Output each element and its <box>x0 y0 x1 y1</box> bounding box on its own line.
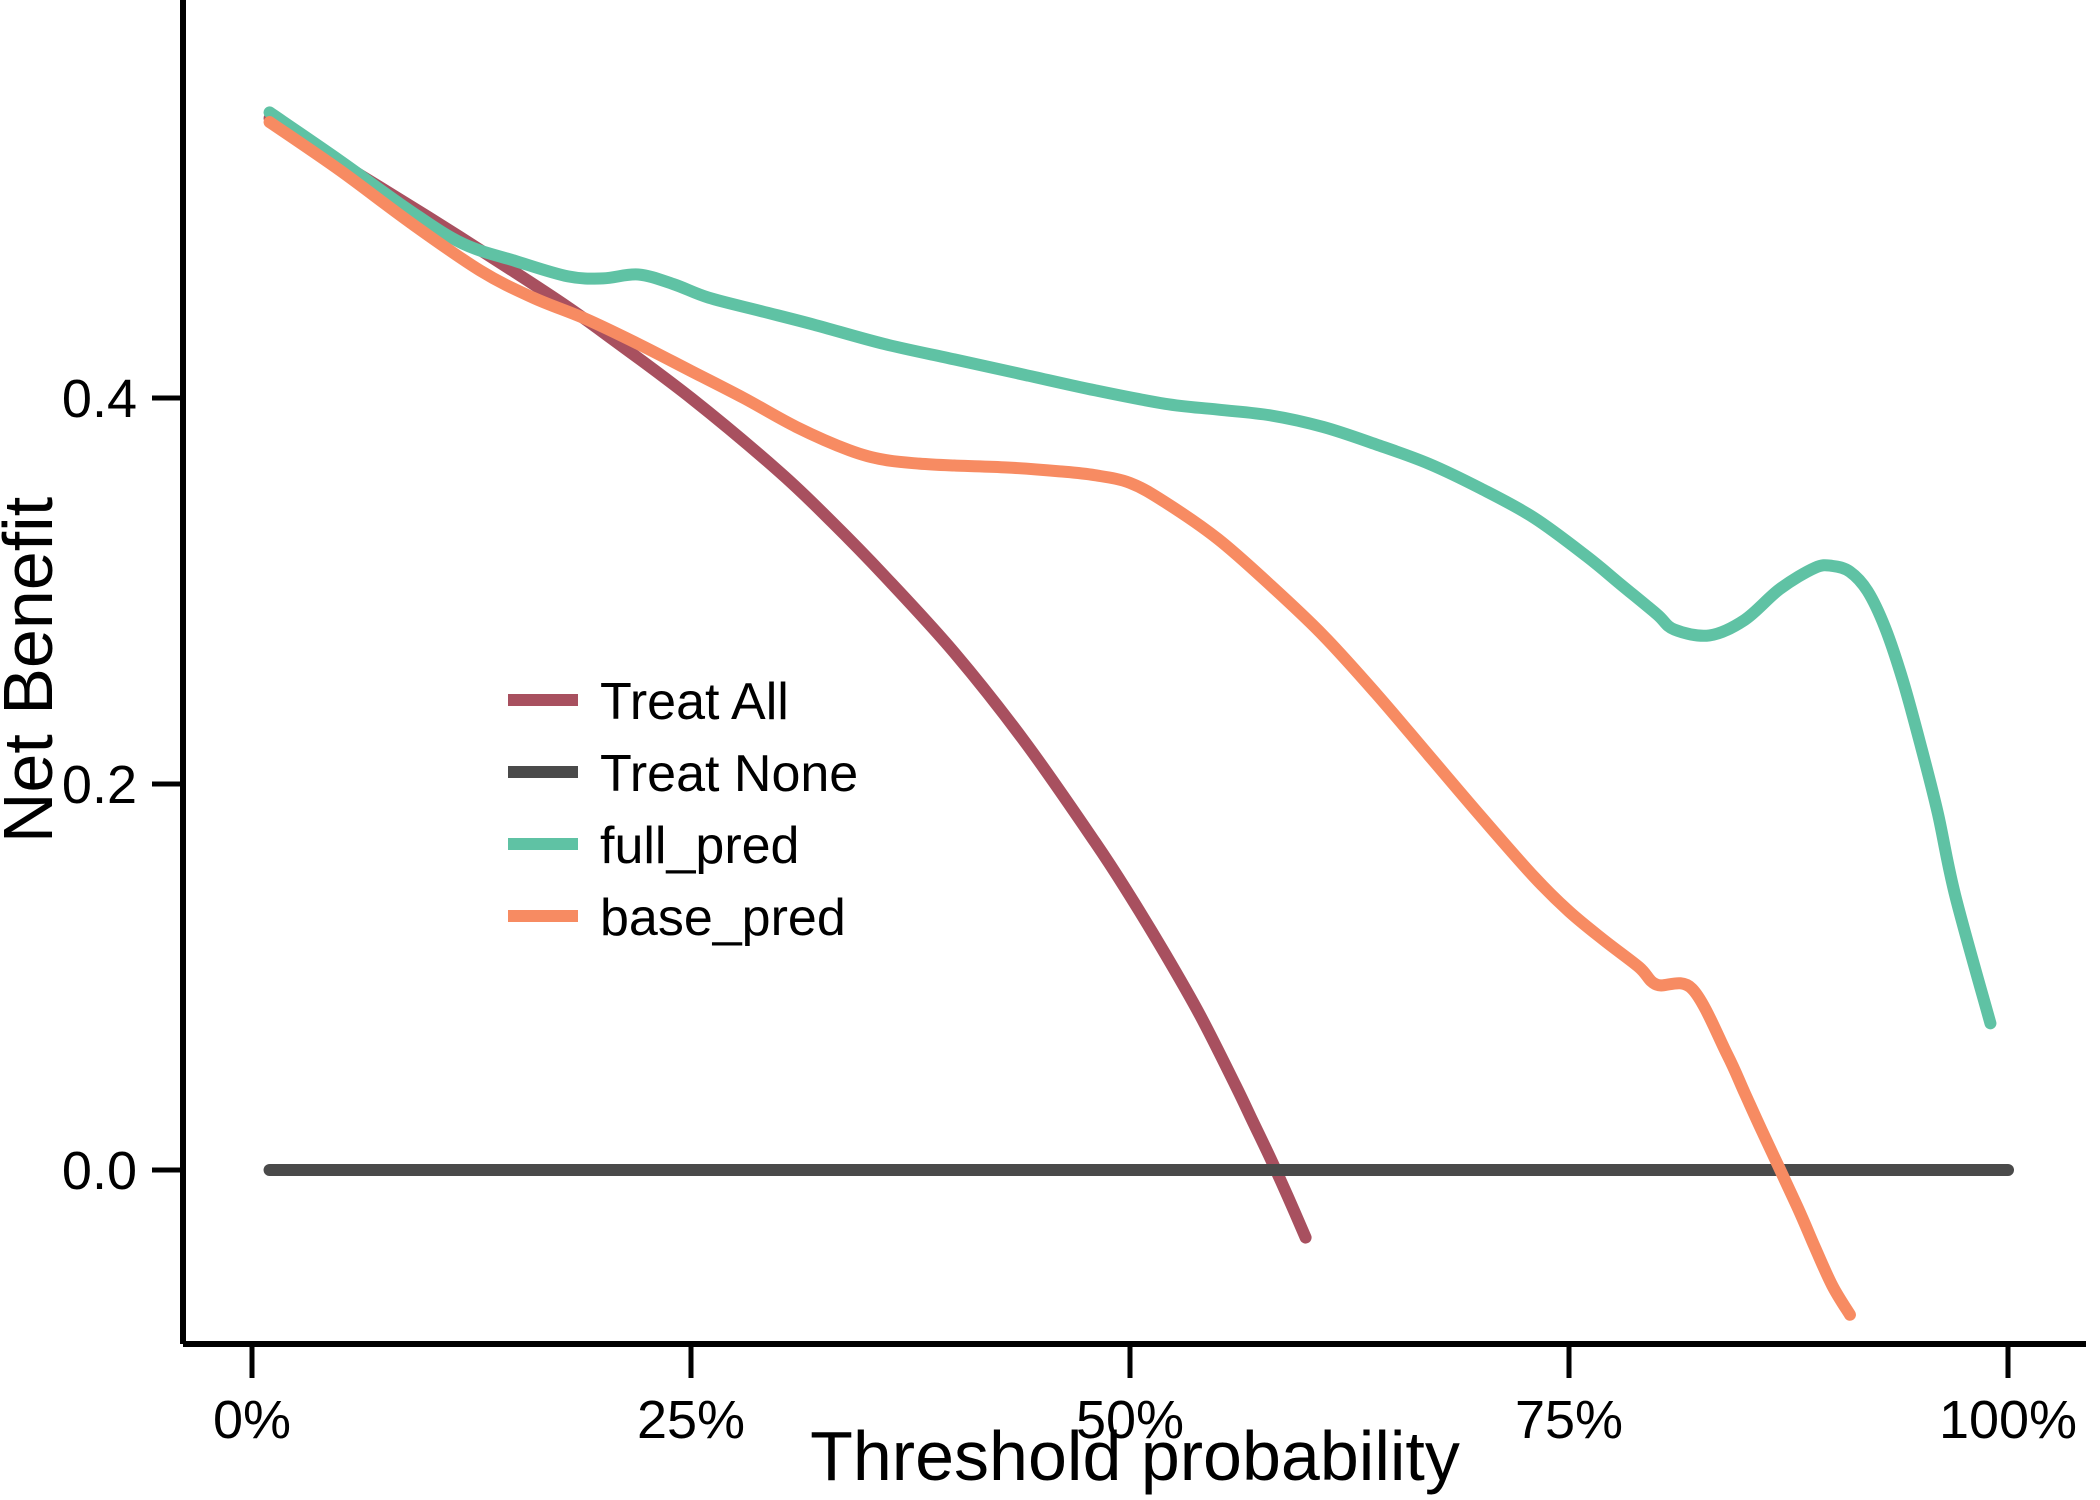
chart-canvas: 0%25%50%75%100% 0.00.20.4 Threshold prob… <box>0 0 2100 1500</box>
series-layer <box>270 112 2008 1314</box>
legend-label-treat-all: Treat All <box>600 673 789 731</box>
y-tick-label: 0.4 <box>62 369 137 429</box>
decision-curve-figure: 0%25%50%75%100% 0.00.20.4 Threshold prob… <box>0 0 2100 1500</box>
x-tick-label: 75% <box>1515 1390 1623 1450</box>
legend-label-base-pred: base_pred <box>600 889 846 947</box>
legend-label-treat-none: Treat None <box>600 745 858 803</box>
legend-label-full-pred: full_pred <box>600 817 799 875</box>
x-tick-label: 25% <box>637 1390 745 1450</box>
chart-legend: Treat AllTreat Nonefull_predbase_pred <box>508 673 858 947</box>
x-axis-title: Threshold probability <box>810 1417 1460 1495</box>
y-axis-ticks: 0.00.20.4 <box>62 369 181 1201</box>
x-tick-label: 0% <box>213 1390 291 1450</box>
y-axis-title: Net Benefit <box>0 497 67 843</box>
series-line-base-pred <box>270 122 1850 1315</box>
x-tick-label: 100% <box>1939 1390 2077 1450</box>
y-tick-label: 0.2 <box>62 755 137 815</box>
axes-layer <box>183 0 2086 1344</box>
y-tick-label: 0.0 <box>62 1141 137 1201</box>
